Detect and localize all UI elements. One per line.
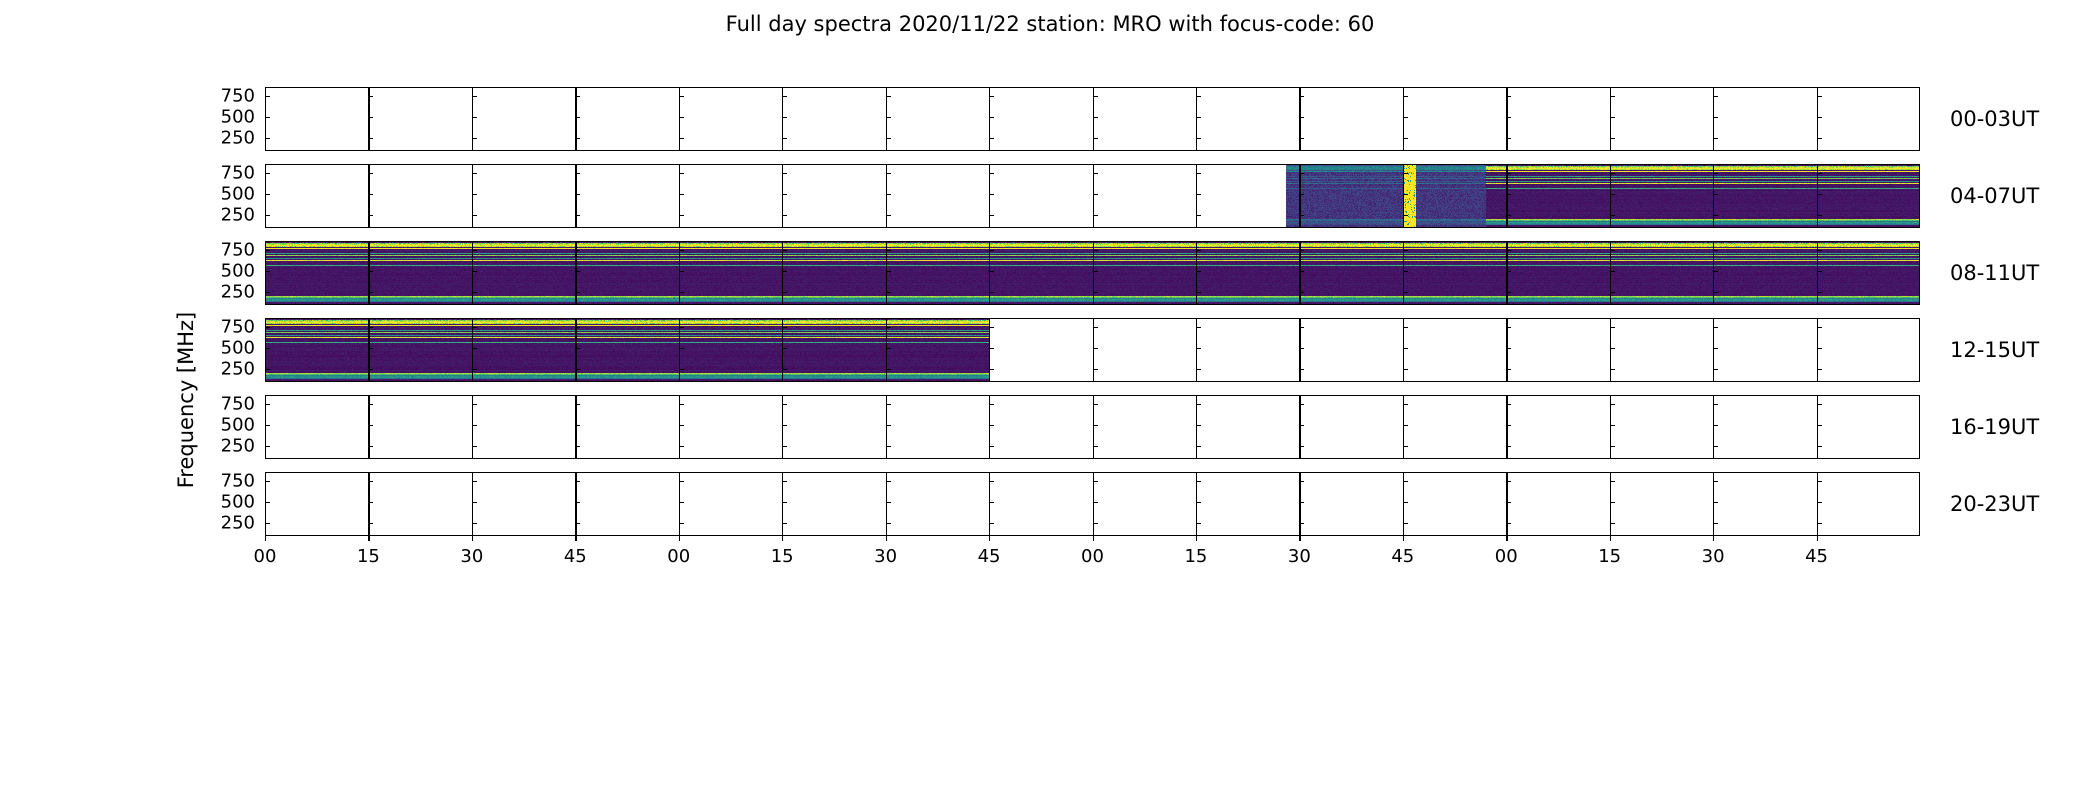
y-tick-mark xyxy=(1506,327,1511,328)
y-tick-mark xyxy=(1093,369,1098,370)
y-tick-mark xyxy=(1196,96,1201,97)
y-tick-mark xyxy=(1506,138,1511,139)
y-tick-mark xyxy=(1506,404,1511,405)
y-tick-mark xyxy=(1817,96,1822,97)
y-tick-mark xyxy=(1713,481,1718,482)
x-tick-mark xyxy=(1713,536,1714,541)
y-tick-mark xyxy=(575,292,580,293)
y-tick-mark xyxy=(1610,502,1615,503)
y-tick-mark xyxy=(265,327,270,328)
y-tick-mark xyxy=(1196,215,1201,216)
y-tick-mark xyxy=(1610,369,1615,370)
y-tick-mark xyxy=(265,215,270,216)
y-tick-mark xyxy=(679,404,684,405)
y-tick-label: 500 xyxy=(203,106,255,127)
y-tick-label: 750 xyxy=(203,239,255,260)
y-tick-mark xyxy=(782,117,787,118)
y-tick-mark xyxy=(368,138,373,139)
y-tick-label: 250 xyxy=(203,128,255,149)
y-tick-mark xyxy=(1817,348,1822,349)
y-tick-mark xyxy=(1093,271,1098,272)
y-tick-mark xyxy=(472,215,477,216)
spectrogram-figure: Full day spectra 2020/11/22 station: MRO… xyxy=(0,0,2100,800)
y-tick-mark xyxy=(989,292,994,293)
y-tick-mark xyxy=(1093,481,1098,482)
x-tick-mark xyxy=(368,536,369,541)
y-tick-mark xyxy=(886,502,891,503)
y-tick-mark xyxy=(1299,292,1304,293)
y-tick-mark xyxy=(1299,138,1304,139)
x-tick-mark xyxy=(679,536,680,541)
y-tick-mark xyxy=(886,523,891,524)
y-tick-mark xyxy=(368,481,373,482)
y-tick-mark xyxy=(1817,327,1822,328)
x-tick-label: 30 xyxy=(1702,546,1725,567)
y-tick-mark xyxy=(886,138,891,139)
y-tick-mark xyxy=(886,173,891,174)
y-tick-mark xyxy=(472,292,477,293)
y-tick-mark xyxy=(1403,523,1408,524)
y-tick-label: 750 xyxy=(203,316,255,337)
y-tick-mark xyxy=(575,96,580,97)
y-tick-mark xyxy=(1299,523,1304,524)
y-tick-label: 250 xyxy=(203,436,255,457)
y-tick-mark xyxy=(368,502,373,503)
y-tick-mark xyxy=(1299,446,1304,447)
y-tick-mark xyxy=(679,523,684,524)
y-tick-mark xyxy=(472,194,477,195)
x-tick-mark xyxy=(1817,536,1818,541)
y-tick-mark xyxy=(1713,348,1718,349)
y-tick-mark xyxy=(1817,481,1822,482)
y-tick-mark xyxy=(1713,194,1718,195)
y-tick-mark xyxy=(679,271,684,272)
y-tick-mark xyxy=(472,173,477,174)
y-tick-mark xyxy=(679,138,684,139)
y-tick-mark xyxy=(265,173,270,174)
y-tick-mark xyxy=(368,446,373,447)
y-tick-mark xyxy=(1093,502,1098,503)
spectrogram-row-12-15ut xyxy=(265,318,1920,382)
y-tick-mark xyxy=(1299,404,1304,405)
x-tick-mark xyxy=(575,536,576,541)
y-tick-mark xyxy=(575,173,580,174)
y-tick-mark xyxy=(1817,292,1822,293)
y-tick-mark xyxy=(1817,117,1822,118)
x-tick-label: 00 xyxy=(1495,546,1518,567)
x-tick-mark xyxy=(886,536,887,541)
y-tick-mark xyxy=(368,292,373,293)
y-tick-mark xyxy=(472,117,477,118)
x-tick-mark xyxy=(472,536,473,541)
y-tick-mark xyxy=(1093,138,1098,139)
y-tick-mark xyxy=(1299,96,1304,97)
y-tick-mark xyxy=(886,481,891,482)
y-tick-mark xyxy=(1506,271,1511,272)
y-tick-mark xyxy=(989,446,994,447)
y-tick-mark xyxy=(1817,502,1822,503)
y-tick-mark xyxy=(1403,194,1408,195)
y-tick-mark xyxy=(886,117,891,118)
y-tick-mark xyxy=(886,96,891,97)
y-tick-mark xyxy=(1610,138,1615,139)
y-tick-mark xyxy=(368,215,373,216)
y-tick-mark xyxy=(679,481,684,482)
y-tick-label: 750 xyxy=(203,393,255,414)
y-tick-mark xyxy=(1299,215,1304,216)
y-tick-mark xyxy=(472,348,477,349)
y-tick-mark xyxy=(782,292,787,293)
y-tick-mark xyxy=(1093,173,1098,174)
y-tick-mark xyxy=(1299,250,1304,251)
y-tick-mark xyxy=(1713,173,1718,174)
y-tick-mark xyxy=(1196,481,1201,482)
row-label-20-23ut: 20-23UT xyxy=(1950,492,2039,516)
y-tick-mark xyxy=(886,369,891,370)
y-tick-mark xyxy=(368,523,373,524)
x-tick-mark xyxy=(989,536,990,541)
y-tick-mark xyxy=(1196,425,1201,426)
y-tick-mark xyxy=(575,502,580,503)
y-tick-mark xyxy=(1196,502,1201,503)
y-tick-mark xyxy=(886,250,891,251)
y-tick-mark xyxy=(1299,481,1304,482)
y-tick-mark xyxy=(679,327,684,328)
y-tick-mark xyxy=(1506,215,1511,216)
y-tick-mark xyxy=(1506,446,1511,447)
y-tick-mark xyxy=(265,523,270,524)
y-tick-mark xyxy=(1506,523,1511,524)
figure-title: Full day spectra 2020/11/22 station: MRO… xyxy=(0,12,2100,36)
y-tick-mark xyxy=(1093,194,1098,195)
y-tick-mark xyxy=(1196,173,1201,174)
y-tick-mark xyxy=(575,138,580,139)
y-tick-label: 250 xyxy=(203,513,255,534)
y-tick-mark xyxy=(265,404,270,405)
y-tick-mark xyxy=(1817,369,1822,370)
y-tick-mark xyxy=(679,117,684,118)
y-tick-mark xyxy=(1196,404,1201,405)
y-tick-mark xyxy=(886,348,891,349)
y-tick-mark xyxy=(1817,250,1822,251)
y-tick-mark xyxy=(1817,446,1822,447)
y-tick-mark xyxy=(1713,271,1718,272)
y-tick-mark xyxy=(1093,404,1098,405)
y-tick-mark xyxy=(1610,523,1615,524)
y-tick-mark xyxy=(472,138,477,139)
y-tick-mark xyxy=(1713,446,1718,447)
x-tick-mark xyxy=(1196,536,1197,541)
y-tick-mark xyxy=(1506,250,1511,251)
y-tick-mark xyxy=(1506,369,1511,370)
y-tick-mark xyxy=(782,250,787,251)
spectrogram-row-16-19ut xyxy=(265,395,1920,459)
x-tick-mark xyxy=(265,536,266,541)
y-tick-mark xyxy=(1506,117,1511,118)
y-tick-mark xyxy=(575,271,580,272)
x-tick-label: 15 xyxy=(1184,546,1207,567)
y-tick-mark xyxy=(989,173,994,174)
y-tick-mark xyxy=(265,481,270,482)
y-tick-mark xyxy=(1403,446,1408,447)
y-tick-mark xyxy=(1817,271,1822,272)
y-tick-mark xyxy=(1817,138,1822,139)
x-tick-label: 45 xyxy=(564,546,587,567)
y-tick-mark xyxy=(368,348,373,349)
y-tick-mark xyxy=(1093,327,1098,328)
y-tick-mark xyxy=(1403,481,1408,482)
x-tick-label: 00 xyxy=(254,546,277,567)
x-tick-label: 15 xyxy=(357,546,380,567)
y-tick-mark xyxy=(1403,250,1408,251)
y-tick-mark xyxy=(679,502,684,503)
y-tick-mark xyxy=(368,173,373,174)
y-tick-mark xyxy=(368,271,373,272)
x-tick-mark xyxy=(1506,536,1507,541)
y-tick-mark xyxy=(265,271,270,272)
y-tick-mark xyxy=(472,523,477,524)
y-tick-mark xyxy=(575,446,580,447)
y-tick-mark xyxy=(265,446,270,447)
y-tick-mark xyxy=(265,348,270,349)
x-tick-label: 30 xyxy=(1288,546,1311,567)
y-tick-mark xyxy=(1196,369,1201,370)
y-tick-mark xyxy=(989,404,994,405)
y-tick-label: 750 xyxy=(203,470,255,491)
y-tick-mark xyxy=(782,446,787,447)
y-tick-mark xyxy=(679,292,684,293)
y-tick-mark xyxy=(472,404,477,405)
y-tick-mark xyxy=(1403,348,1408,349)
y-tick-mark xyxy=(782,369,787,370)
y-tick-mark xyxy=(679,425,684,426)
y-tick-mark xyxy=(1403,96,1408,97)
x-tick-mark xyxy=(1299,536,1300,541)
x-tick-label: 15 xyxy=(1598,546,1621,567)
y-tick-mark xyxy=(575,523,580,524)
y-tick-mark xyxy=(1196,348,1201,349)
y-tick-mark xyxy=(1403,327,1408,328)
y-tick-mark xyxy=(989,215,994,216)
y-tick-mark xyxy=(989,348,994,349)
y-tick-mark xyxy=(1713,327,1718,328)
y-tick-mark xyxy=(886,327,891,328)
y-tick-mark xyxy=(1299,194,1304,195)
y-tick-mark xyxy=(575,327,580,328)
y-tick-mark xyxy=(1093,215,1098,216)
y-tick-mark xyxy=(1610,425,1615,426)
y-tick-label: 500 xyxy=(203,491,255,512)
y-tick-mark xyxy=(1713,117,1718,118)
y-tick-mark xyxy=(989,138,994,139)
y-tick-label: 250 xyxy=(203,282,255,303)
y-tick-mark xyxy=(1610,215,1615,216)
y-tick-mark xyxy=(1299,271,1304,272)
y-tick-mark xyxy=(1817,173,1822,174)
row-label-00-03ut: 00-03UT xyxy=(1950,107,2039,131)
y-tick-mark xyxy=(265,96,270,97)
y-tick-mark xyxy=(679,446,684,447)
y-tick-mark xyxy=(1817,215,1822,216)
spectrogram-row-00-03ut xyxy=(265,87,1920,151)
y-tick-mark xyxy=(265,117,270,118)
y-tick-mark xyxy=(782,404,787,405)
y-tick-mark xyxy=(1610,173,1615,174)
y-tick-label: 500 xyxy=(203,260,255,281)
y-tick-mark xyxy=(1506,425,1511,426)
spectrogram-row-08-11ut xyxy=(265,241,1920,305)
row-label-16-19ut: 16-19UT xyxy=(1950,415,2039,439)
y-tick-mark xyxy=(1196,523,1201,524)
y-tick-mark xyxy=(1299,348,1304,349)
y-tick-mark xyxy=(1610,481,1615,482)
y-tick-label: 500 xyxy=(203,183,255,204)
y-tick-mark xyxy=(265,138,270,139)
y-tick-label: 750 xyxy=(203,85,255,106)
y-tick-mark xyxy=(1610,250,1615,251)
y-tick-mark xyxy=(782,173,787,174)
y-tick-mark xyxy=(1403,271,1408,272)
y-tick-mark xyxy=(1610,194,1615,195)
y-tick-mark xyxy=(472,425,477,426)
x-tick-label: 45 xyxy=(978,546,1001,567)
y-tick-mark xyxy=(1610,404,1615,405)
y-tick-mark xyxy=(472,96,477,97)
y-tick-mark xyxy=(782,481,787,482)
x-tick-mark xyxy=(1403,536,1404,541)
x-tick-label: 00 xyxy=(1081,546,1104,567)
y-tick-label: 750 xyxy=(203,162,255,183)
y-tick-mark xyxy=(1299,173,1304,174)
y-tick-mark xyxy=(989,327,994,328)
y-tick-mark xyxy=(886,292,891,293)
y-tick-mark xyxy=(782,215,787,216)
y-tick-mark xyxy=(1299,425,1304,426)
spectrogram-row-20-23ut xyxy=(265,472,1920,536)
y-tick-mark xyxy=(575,369,580,370)
y-tick-label: 250 xyxy=(203,359,255,380)
row-label-12-15ut: 12-15UT xyxy=(1950,338,2039,362)
y-tick-mark xyxy=(1403,138,1408,139)
y-tick-mark xyxy=(1403,215,1408,216)
y-tick-mark xyxy=(368,194,373,195)
y-tick-mark xyxy=(782,138,787,139)
y-tick-mark xyxy=(575,348,580,349)
y-tick-mark xyxy=(1506,173,1511,174)
y-tick-mark xyxy=(989,523,994,524)
y-tick-mark xyxy=(1403,425,1408,426)
y-tick-mark xyxy=(679,250,684,251)
y-tick-mark xyxy=(886,425,891,426)
y-tick-mark xyxy=(368,250,373,251)
y-tick-mark xyxy=(1506,96,1511,97)
y-tick-mark xyxy=(1196,138,1201,139)
y-tick-mark xyxy=(1093,96,1098,97)
y-tick-mark xyxy=(1196,292,1201,293)
y-tick-mark xyxy=(989,194,994,195)
y-tick-label: 500 xyxy=(203,337,255,358)
y-tick-mark xyxy=(1196,250,1201,251)
y-tick-mark xyxy=(782,425,787,426)
y-tick-mark xyxy=(782,502,787,503)
y-tick-mark xyxy=(575,481,580,482)
y-tick-mark xyxy=(575,250,580,251)
y-tick-mark xyxy=(782,327,787,328)
y-tick-mark xyxy=(989,271,994,272)
y-tick-mark xyxy=(1093,292,1098,293)
y-tick-mark xyxy=(472,250,477,251)
row-label-08-11ut: 08-11UT xyxy=(1950,261,2039,285)
y-tick-mark xyxy=(368,369,373,370)
x-tick-label: 30 xyxy=(874,546,897,567)
y-tick-mark xyxy=(1713,96,1718,97)
y-tick-mark xyxy=(1817,404,1822,405)
y-tick-mark xyxy=(1713,292,1718,293)
y-tick-mark xyxy=(575,425,580,426)
y-tick-mark xyxy=(1713,369,1718,370)
y-tick-mark xyxy=(1196,117,1201,118)
x-tick-label: 00 xyxy=(667,546,690,567)
y-tick-mark xyxy=(679,194,684,195)
y-tick-mark xyxy=(679,96,684,97)
y-tick-mark xyxy=(1506,292,1511,293)
y-tick-mark xyxy=(989,96,994,97)
y-tick-mark xyxy=(368,327,373,328)
y-tick-mark xyxy=(1506,481,1511,482)
y-tick-mark xyxy=(472,271,477,272)
y-tick-mark xyxy=(886,271,891,272)
y-tick-mark xyxy=(1403,404,1408,405)
y-tick-mark xyxy=(1403,173,1408,174)
x-tick-label: 15 xyxy=(771,546,794,567)
y-tick-mark xyxy=(782,194,787,195)
y-tick-mark xyxy=(679,173,684,174)
y-tick-label: 500 xyxy=(203,414,255,435)
y-tick-mark xyxy=(575,117,580,118)
y-tick-mark xyxy=(989,502,994,503)
y-tick-mark xyxy=(1093,446,1098,447)
y-tick-mark xyxy=(472,369,477,370)
y-tick-mark xyxy=(265,292,270,293)
y-tick-mark xyxy=(368,117,373,118)
y-tick-mark xyxy=(989,117,994,118)
y-tick-mark xyxy=(1713,215,1718,216)
y-tick-mark xyxy=(472,502,477,503)
y-tick-mark xyxy=(1506,348,1511,349)
y-tick-mark xyxy=(1506,502,1511,503)
y-tick-mark xyxy=(1093,250,1098,251)
y-tick-mark xyxy=(1093,117,1098,118)
y-tick-mark xyxy=(368,425,373,426)
x-tick-label: 30 xyxy=(460,546,483,567)
y-tick-mark xyxy=(1196,271,1201,272)
y-tick-mark xyxy=(1403,369,1408,370)
y-tick-mark xyxy=(1196,194,1201,195)
y-tick-mark xyxy=(368,404,373,405)
x-tick-label: 45 xyxy=(1391,546,1414,567)
y-tick-mark xyxy=(265,425,270,426)
spectrogram-row-04-07ut xyxy=(265,164,1920,228)
y-tick-mark xyxy=(886,194,891,195)
y-tick-mark xyxy=(265,502,270,503)
row-label-04-07ut: 04-07UT xyxy=(1950,184,2039,208)
y-tick-mark xyxy=(1713,502,1718,503)
y-tick-mark xyxy=(989,425,994,426)
y-tick-mark xyxy=(886,215,891,216)
y-tick-mark xyxy=(679,215,684,216)
y-tick-mark xyxy=(782,96,787,97)
y-tick-mark xyxy=(886,446,891,447)
